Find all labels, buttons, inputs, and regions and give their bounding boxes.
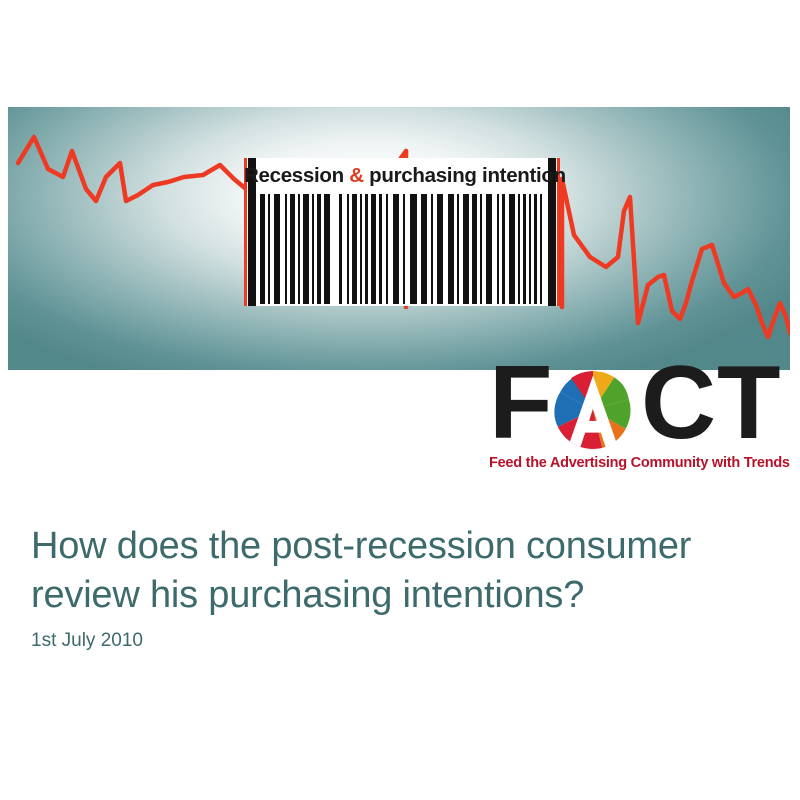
logo-letter-t: T bbox=[717, 361, 779, 445]
barcode-title-part-1: Recession bbox=[244, 164, 349, 187]
title-slide: Recession & purchasing intention bbox=[0, 0, 800, 800]
barcode-graphic: Recession & purchasing intention bbox=[244, 158, 560, 306]
page-title-line-1: How does the post-recession consumer bbox=[31, 522, 761, 571]
barcode-title-part-2: purchasing intention bbox=[364, 164, 566, 187]
logo-letter-c: C bbox=[641, 361, 714, 445]
barcode-bars bbox=[244, 194, 560, 304]
page-title-line-2: review his purchasing intentions? bbox=[31, 571, 761, 620]
logo-tagline: Feed the Advertising Community with Tren… bbox=[489, 455, 793, 471]
page-title: How does the post-recession consumer rev… bbox=[31, 522, 761, 620]
hero-banner-image: Recession & purchasing intention bbox=[8, 107, 790, 370]
logo-letter-a-pie-icon bbox=[552, 371, 634, 449]
barcode-title-ampersand: & bbox=[349, 164, 364, 187]
page-date: 1st July 2010 bbox=[31, 628, 143, 654]
trend-line-right bbox=[562, 179, 790, 337]
fact-wordmark: F C T bbox=[489, 367, 793, 451]
logo-letter-f: F bbox=[489, 361, 551, 445]
barcode-title-text: Recession & purchasing intention bbox=[244, 161, 560, 191]
fact-logo: F C T bbox=[489, 367, 793, 477]
